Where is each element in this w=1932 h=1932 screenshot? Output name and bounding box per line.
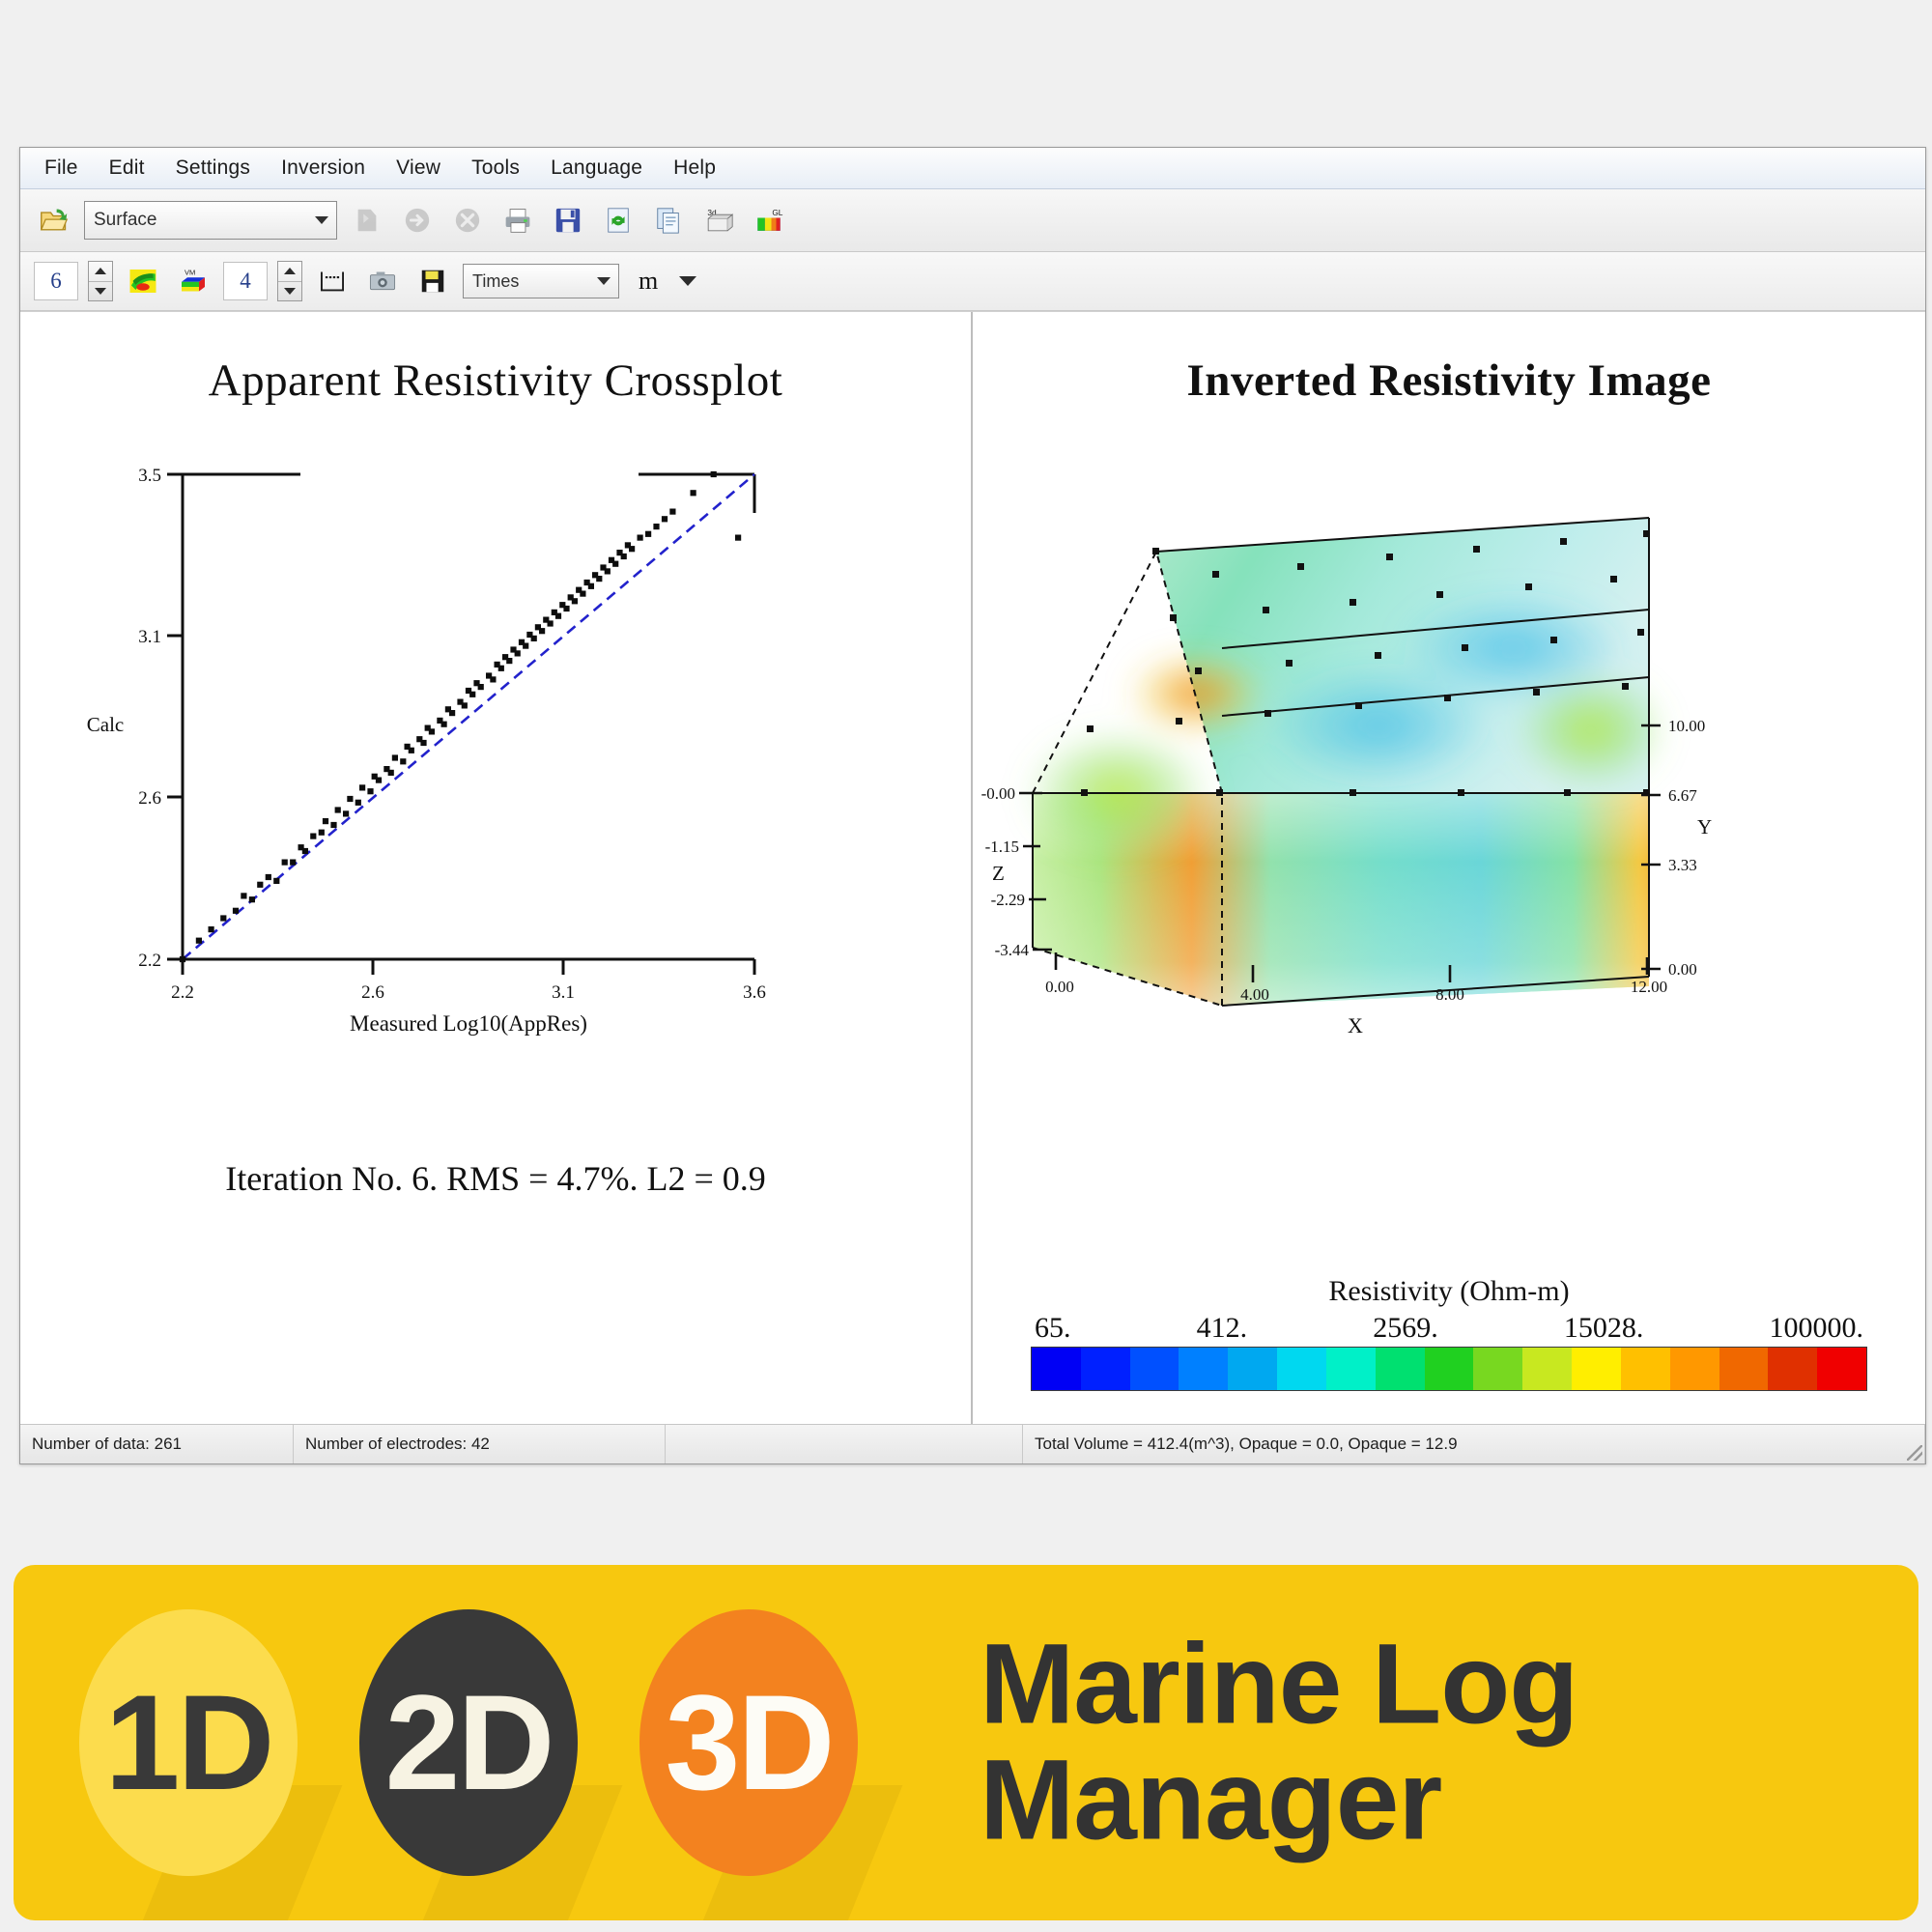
- open-folder-icon[interactable]: [34, 200, 74, 241]
- colorbar-swatch: [1768, 1348, 1817, 1390]
- product-banner: 1D 2D 3D Marine Log Manager: [14, 1565, 1918, 1920]
- product-name-line2: Manager: [980, 1743, 1577, 1859]
- colorbar-tick-1: 412.: [1197, 1312, 1248, 1345]
- colorbar-swatch: [1572, 1348, 1621, 1390]
- chevron-down-icon: [315, 216, 328, 224]
- menu-item-help[interactable]: Help: [670, 155, 719, 182]
- svg-text:GL: GL: [772, 208, 782, 217]
- colorbar-swatch: [1032, 1348, 1081, 1390]
- layer-stepper[interactable]: [277, 261, 302, 301]
- volume-render-icon[interactable]: VM: [173, 261, 213, 301]
- svg-text:VM: VM: [185, 268, 195, 276]
- colorbar-tick-0: 65.: [1035, 1312, 1071, 1345]
- status-blank: [666, 1425, 1023, 1463]
- print-icon[interactable]: [497, 200, 538, 241]
- scale-bar-icon[interactable]: [312, 261, 353, 301]
- colorbar-swatch: [1670, 1348, 1719, 1390]
- crossplot-ytick-1: 3.1: [138, 627, 161, 647]
- iteration-stepper[interactable]: [88, 261, 113, 301]
- edit-shape-icon[interactable]: [347, 200, 387, 241]
- y-tick-1: 3.33: [1668, 856, 1697, 874]
- y-tick-0: 0.00: [1668, 960, 1697, 979]
- colorbar: Resistivity (Ohm-m) 65. 412. 2569. 15028…: [1031, 1275, 1867, 1391]
- unit-label: m: [639, 267, 658, 296]
- colorbar-tick-4: 100000.: [1770, 1312, 1864, 1345]
- block-model-svg: -0.00 -1.15 -2.29 -3.44 Z: [973, 407, 1925, 1141]
- application-window: File Edit Settings Inversion View Tools …: [19, 147, 1926, 1464]
- colorbar-swatch: [1376, 1348, 1425, 1390]
- x-tick-0: 0.00: [1045, 978, 1074, 996]
- colorbar-swatch: [1179, 1348, 1228, 1390]
- crossplot-ytick-0: 3.5: [138, 466, 161, 486]
- menu-item-edit[interactable]: Edit: [106, 155, 148, 182]
- stop-x-icon[interactable]: [447, 200, 488, 241]
- badge-3d[interactable]: 3D: [639, 1609, 858, 1876]
- status-volume-info: Total Volume = 412.4(m^3), Opaque = 0.0,…: [1023, 1425, 1925, 1463]
- crossplot-xtick-3: 3.6: [743, 982, 766, 1003]
- crossplot-identity-line: [183, 474, 754, 959]
- crossplot-pane: Apparent Resistivity Crossplot: [20, 312, 973, 1424]
- save-disk-icon[interactable]: [412, 261, 453, 301]
- iteration-value[interactable]: 6: [34, 262, 78, 300]
- colorbar-swatch: [1081, 1348, 1130, 1390]
- y-axis-label: Y: [1697, 815, 1712, 838]
- inverted-image-pane: Inverted Resistivity Image: [973, 312, 1925, 1424]
- colorbar-swatch: [1621, 1348, 1670, 1390]
- z-tick-1: -1.15: [985, 838, 1019, 856]
- x-axis-label: X: [1348, 1013, 1363, 1037]
- crossplot-xtick-1: 2.6: [361, 982, 384, 1003]
- menu-item-language[interactable]: Language: [548, 155, 645, 182]
- z-axis-label: Z: [992, 862, 1005, 885]
- 3d-grid-icon[interactable]: 3d: [698, 200, 739, 241]
- status-electrode-count: Number of electrodes: 42: [294, 1425, 666, 1463]
- colorbar-swatch: [1522, 1348, 1572, 1390]
- x-tick-3: 12.00: [1631, 978, 1667, 996]
- colorbar-swatch: [1130, 1348, 1179, 1390]
- colorbar-swatch: [1228, 1348, 1277, 1390]
- menu-item-file[interactable]: File: [42, 155, 81, 182]
- menu-item-settings[interactable]: Settings: [173, 155, 253, 182]
- stepper-up[interactable]: [89, 262, 112, 281]
- crossplot-xlabel: Measured Log10(AppRes): [350, 1011, 587, 1036]
- save-disk-icon[interactable]: [548, 200, 588, 241]
- stepper-down[interactable]: [278, 281, 301, 301]
- product-name-line1: Marine Log: [980, 1627, 1577, 1743]
- z-tick-0: -0.00: [981, 784, 1015, 803]
- colorbar-swatch: [1277, 1348, 1326, 1390]
- view-toolbar: 6 VM: [20, 252, 1925, 311]
- x-tick-2: 8.00: [1435, 985, 1464, 1004]
- y-tick-3: 10.00: [1668, 717, 1705, 735]
- menu-item-view[interactable]: View: [393, 155, 443, 182]
- contour-fill-icon[interactable]: [123, 261, 163, 301]
- z-tick-2: -2.29: [991, 891, 1025, 909]
- surface-combo-value: Surface: [94, 210, 156, 231]
- colorbar-swatch: [1425, 1348, 1474, 1390]
- crossplot-ylabel: Calc: [87, 713, 124, 736]
- crossplot-ytick-2: 2.6: [138, 788, 161, 809]
- status-data-count: Number of data: 261: [20, 1425, 294, 1463]
- product-name: Marine Log Manager: [980, 1627, 1577, 1860]
- z-tick-3: -3.44: [995, 941, 1030, 959]
- stepper-up[interactable]: [278, 262, 301, 281]
- block-model-canvas: -0.00 -1.15 -2.29 -3.44 Z: [973, 407, 1925, 1141]
- crossplot-ytick-3: 2.2: [138, 951, 161, 971]
- status-bar: Number of data: 261 Number of electrodes…: [20, 1424, 1925, 1463]
- font-combo[interactable]: Times: [463, 264, 619, 298]
- chevron-down-icon: [597, 277, 611, 285]
- colorbar-tick-3: 15028.: [1564, 1312, 1644, 1345]
- menu-bar: File Edit Settings Inversion View Tools …: [20, 148, 1925, 189]
- badge-2d[interactable]: 2D: [359, 1609, 578, 1876]
- inverted-image-title: Inverted Resistivity Image: [973, 355, 1925, 407]
- plot-client-area: Apparent Resistivity Crossplot: [20, 311, 1925, 1424]
- colorbar-swatch: [1326, 1348, 1376, 1390]
- inversion-stats-caption: Iteration No. 6. RMS = 4.7%. L2 = 0.9: [20, 1158, 971, 1199]
- copy-page-icon[interactable]: [648, 200, 689, 241]
- colorbar-ticks: 65. 412. 2569. 15028. 100000.: [1031, 1312, 1867, 1347]
- stepper-down[interactable]: [89, 281, 112, 301]
- font-combo-value: Times: [472, 271, 519, 292]
- color-image-icon[interactable]: GL: [749, 200, 789, 241]
- screenshot-root: File Edit Settings Inversion View Tools …: [0, 0, 1932, 1932]
- colorbar-tick-2: 2569.: [1373, 1312, 1438, 1345]
- crossplot-points: [180, 471, 741, 962]
- main-toolbar: Surface: [20, 189, 1925, 252]
- crossplot-xtick-2: 3.1: [552, 982, 575, 1003]
- crossplot-xtick-0: 2.2: [171, 982, 194, 1003]
- unit-dropdown-icon[interactable]: [679, 276, 696, 286]
- x-tick-1: 4.00: [1240, 985, 1269, 1004]
- y-tick-2: 6.67: [1668, 786, 1697, 805]
- colorbar-swatch: [1817, 1348, 1866, 1390]
- menu-item-inversion[interactable]: Inversion: [278, 155, 368, 182]
- colorbar-swatch: [1719, 1348, 1769, 1390]
- camera-icon[interactable]: [362, 261, 403, 301]
- run-arrow-icon[interactable]: [397, 200, 438, 241]
- colorbar-gradient: [1031, 1347, 1867, 1391]
- crossplot-title: Apparent Resistivity Crossplot: [20, 355, 971, 407]
- layer-value[interactable]: 4: [223, 262, 268, 300]
- menu-item-tools[interactable]: Tools: [469, 155, 523, 182]
- surface-combo[interactable]: Surface: [84, 201, 337, 240]
- refresh-page-icon[interactable]: [598, 200, 639, 241]
- crossplot-canvas: 3.5 3.1 2.6 2.2 2.2: [20, 407, 971, 1141]
- colorbar-swatch: [1473, 1348, 1522, 1390]
- crossplot-svg: 3.5 3.1 2.6 2.2 2.2: [20, 407, 971, 1141]
- badge-1d[interactable]: 1D: [79, 1609, 298, 1876]
- resize-grip-icon[interactable]: [1907, 1445, 1922, 1461]
- colorbar-title: Resistivity (Ohm-m): [1031, 1275, 1867, 1308]
